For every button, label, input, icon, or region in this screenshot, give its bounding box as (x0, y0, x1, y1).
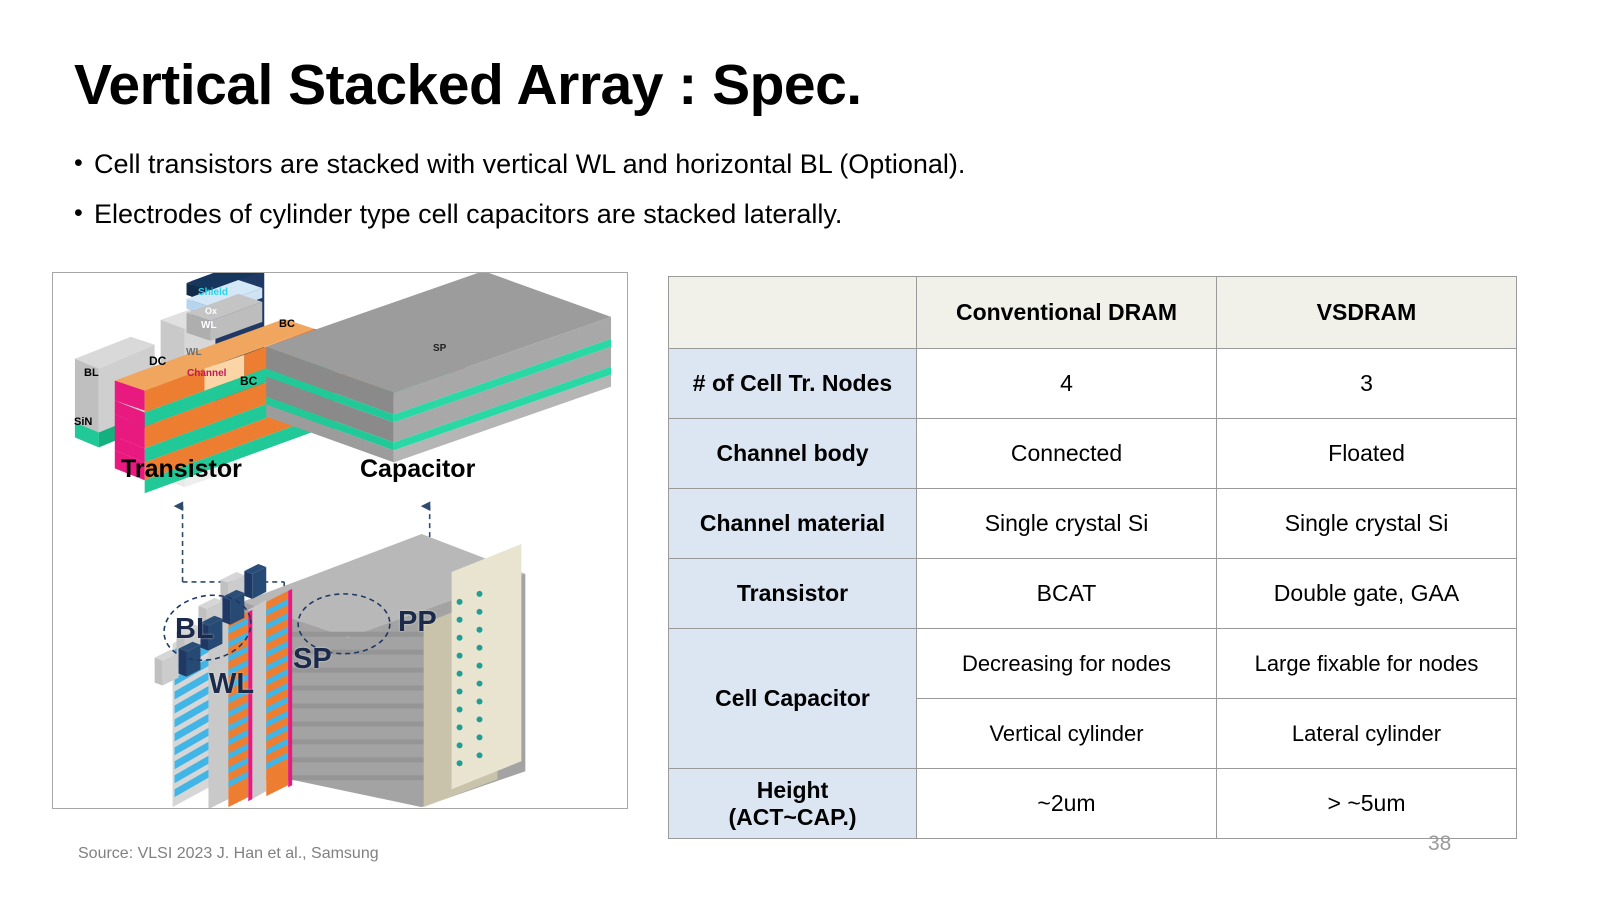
table-row: Channel material Single crystal Si Singl… (669, 489, 1517, 559)
cell-conventional-channel-body: Connected (917, 419, 1217, 489)
cell-vsdram-channel-body: Floated (1217, 419, 1517, 489)
slide-root: Vertical Stacked Array : Spec. • Cell tr… (0, 0, 1600, 900)
cell-conventional-height: ~2um (917, 769, 1217, 839)
detail-label-channel: Channel (187, 368, 226, 379)
detail-label-sp: SP (433, 343, 446, 354)
detail-label-wl-body: WL (186, 347, 202, 358)
detail-label-bc-back: BC (279, 318, 295, 330)
figure-caption-transistor: Transistor (121, 455, 242, 484)
row-label-height-line1: Height (673, 777, 912, 803)
cell-vsdram-capacitor-type: Lateral cylinder (1217, 699, 1517, 769)
table-row: # of Cell Tr. Nodes 4 3 (669, 349, 1517, 419)
row-label-height-line2: (ACT~CAP.) (673, 804, 912, 830)
list-item: • Electrodes of cylinder type cell capac… (74, 198, 1324, 232)
detail-label-wl-top: WL (201, 320, 217, 331)
row-label-height: Height (ACT~CAP.) (669, 769, 917, 839)
bullet-text: Electrodes of cylinder type cell capacit… (94, 198, 842, 232)
bullet-marker-icon: • (74, 198, 94, 229)
list-item: • Cell transistors are stacked with vert… (74, 148, 1324, 182)
array-label-sp: SP (293, 643, 332, 676)
capacitor-bar (266, 273, 611, 462)
detail-label-bc-front: BC (240, 374, 257, 388)
table-corner-cell (669, 277, 917, 349)
detail-label-ox: Ox (205, 306, 217, 316)
row-label-cell-capacitor: Cell Capacitor (669, 629, 917, 769)
column-header-vsdram: VSDRAM (1217, 277, 1517, 349)
figure-caption-capacitor: Capacitor (360, 455, 475, 484)
cell-vsdram-height: > ~5um (1217, 769, 1517, 839)
array-label-pp: PP (398, 606, 437, 639)
bullet-marker-icon: • (74, 148, 94, 179)
bullet-list: • Cell transistors are stacked with vert… (74, 148, 1324, 248)
page-number: 38 (1428, 832, 1451, 856)
array-label-wl: WL (209, 668, 254, 701)
row-label-cell-tr-nodes: # of Cell Tr. Nodes (669, 349, 917, 419)
table-row: Cell Capacitor Decreasing for nodes Larg… (669, 629, 1517, 699)
row-label-channel-material: Channel material (669, 489, 917, 559)
row-label-transistor: Transistor (669, 559, 917, 629)
cell-vsdram-nodes: 3 (1217, 349, 1517, 419)
detail-label-bl: BL (84, 367, 99, 379)
detail-label-shield: Shield (198, 287, 228, 298)
row-label-channel-body: Channel body (669, 419, 917, 489)
detail-label-dc: DC (149, 354, 166, 368)
page-title: Vertical Stacked Array : Spec. (74, 52, 862, 118)
detail-label-sin: SiN (74, 416, 92, 428)
table-row: Height (ACT~CAP.) ~2um > ~5um (669, 769, 1517, 839)
cell-vsdram-transistor: Double gate, GAA (1217, 559, 1517, 629)
cell-vsdram-capacitor-scaling: Large fixable for nodes (1217, 629, 1517, 699)
figure-panel: Transistor Capacitor BL WL SP PP Shield … (52, 272, 628, 809)
spec-comparison-table: Conventional DRAM VSDRAM # of Cell Tr. N… (668, 276, 1516, 839)
table-row: Transistor BCAT Double gate, GAA (669, 559, 1517, 629)
cell-conventional-capacitor-type: Vertical cylinder (917, 699, 1217, 769)
table-row: Channel body Connected Floated (669, 419, 1517, 489)
cell-conventional-channel-material: Single crystal Si (917, 489, 1217, 559)
cell-vsdram-channel-material: Single crystal Si (1217, 489, 1517, 559)
source-citation: Source: VLSI 2023 J. Han et al., Samsung (78, 845, 379, 863)
array-label-bl: BL (175, 613, 214, 646)
column-header-conventional: Conventional DRAM (917, 277, 1217, 349)
cell-conventional-transistor: BCAT (917, 559, 1217, 629)
cell-conventional-nodes: 4 (917, 349, 1217, 419)
vsdram-structure-diagram (53, 273, 627, 808)
table-header-row: Conventional DRAM VSDRAM (669, 277, 1517, 349)
cell-conventional-capacitor-scaling: Decreasing for nodes (917, 629, 1217, 699)
bullet-text: Cell transistors are stacked with vertic… (94, 148, 965, 182)
